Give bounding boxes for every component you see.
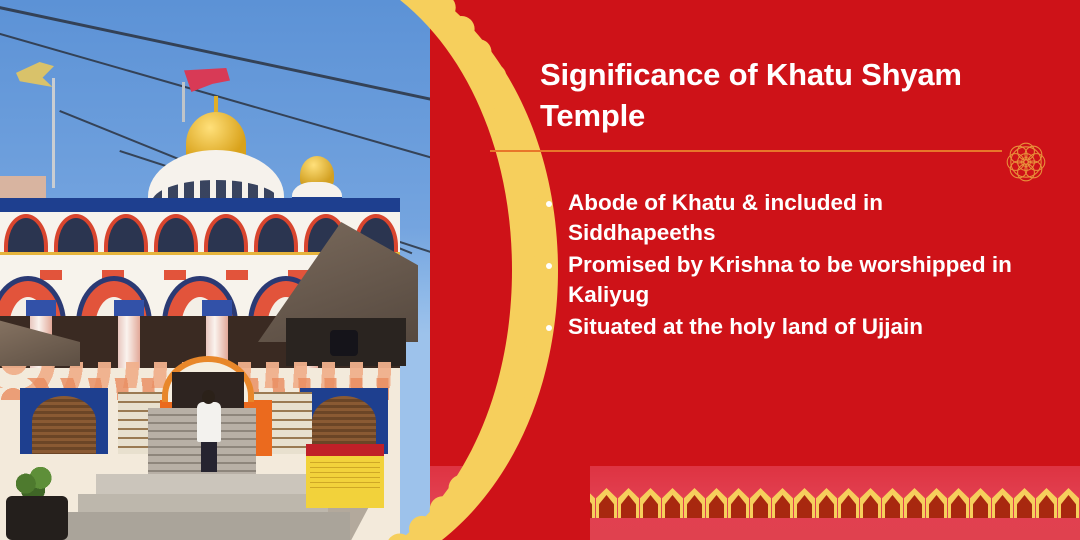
list-item: Situated at the holy land of Ujjain bbox=[540, 312, 1020, 342]
arch-motif bbox=[728, 488, 749, 518]
arch-motif bbox=[552, 488, 573, 518]
step-platform bbox=[60, 512, 350, 540]
arch-motif bbox=[684, 488, 705, 518]
window-panel bbox=[20, 388, 108, 454]
arch-motif bbox=[970, 488, 991, 518]
arch-motif bbox=[772, 488, 793, 518]
arch-motif bbox=[508, 488, 529, 518]
devotee-figure bbox=[197, 402, 221, 442]
bullet-list: Abode of Khatu & included in Siddhapeeth… bbox=[540, 188, 1020, 343]
foreground-object bbox=[6, 496, 68, 540]
arch-motif bbox=[530, 488, 551, 518]
arch bbox=[54, 214, 98, 252]
presentation-slide: Significance of Khatu Shyam Temple Abode… bbox=[0, 0, 1080, 540]
devotee-figure bbox=[202, 390, 215, 404]
page-title: Significance of Khatu Shyam Temple bbox=[540, 54, 1000, 136]
arch-motif bbox=[1058, 488, 1079, 518]
arch-motif bbox=[838, 488, 859, 518]
arch-motif bbox=[574, 488, 595, 518]
bottom-decorative-band bbox=[430, 466, 1080, 540]
arch-motif bbox=[486, 488, 507, 518]
arch bbox=[154, 214, 198, 252]
arch-motif bbox=[618, 488, 639, 518]
arch-motif bbox=[1036, 488, 1057, 518]
arch-motif bbox=[816, 488, 837, 518]
arch-motif bbox=[992, 488, 1013, 518]
saffron-flag bbox=[184, 68, 230, 92]
arch-motif bbox=[706, 488, 727, 518]
arch bbox=[104, 214, 148, 252]
arch-motif bbox=[794, 488, 815, 518]
arch bbox=[4, 214, 48, 252]
yellow-flag bbox=[16, 62, 54, 88]
list-item: Promised by Krishna to be worshipped in … bbox=[540, 250, 1020, 311]
loudspeaker bbox=[330, 330, 358, 356]
title-divider bbox=[490, 150, 1002, 152]
arch bbox=[254, 214, 298, 252]
arch-motif bbox=[860, 488, 881, 518]
arch-motif bbox=[640, 488, 661, 518]
arch-motif bbox=[442, 488, 463, 518]
arch bbox=[204, 214, 248, 252]
arch-motif bbox=[926, 488, 947, 518]
arch-motif bbox=[596, 488, 617, 518]
arch-motif bbox=[904, 488, 925, 518]
mandala-rosette-icon bbox=[997, 133, 1055, 191]
flagpole bbox=[52, 78, 55, 188]
arch-motif bbox=[464, 488, 485, 518]
arch-motif bbox=[662, 488, 683, 518]
list-item: Abode of Khatu & included in Siddhapeeth… bbox=[540, 188, 1020, 249]
arch-motif bbox=[1014, 488, 1035, 518]
arch-motif bbox=[948, 488, 969, 518]
potted-plant bbox=[12, 462, 58, 498]
arch-motif bbox=[882, 488, 903, 518]
temple-arch-border bbox=[442, 488, 1080, 518]
signboard-text-lines bbox=[310, 462, 380, 492]
arch-motif bbox=[750, 488, 771, 518]
flagpole bbox=[182, 82, 185, 122]
devotee-figure bbox=[201, 438, 217, 472]
